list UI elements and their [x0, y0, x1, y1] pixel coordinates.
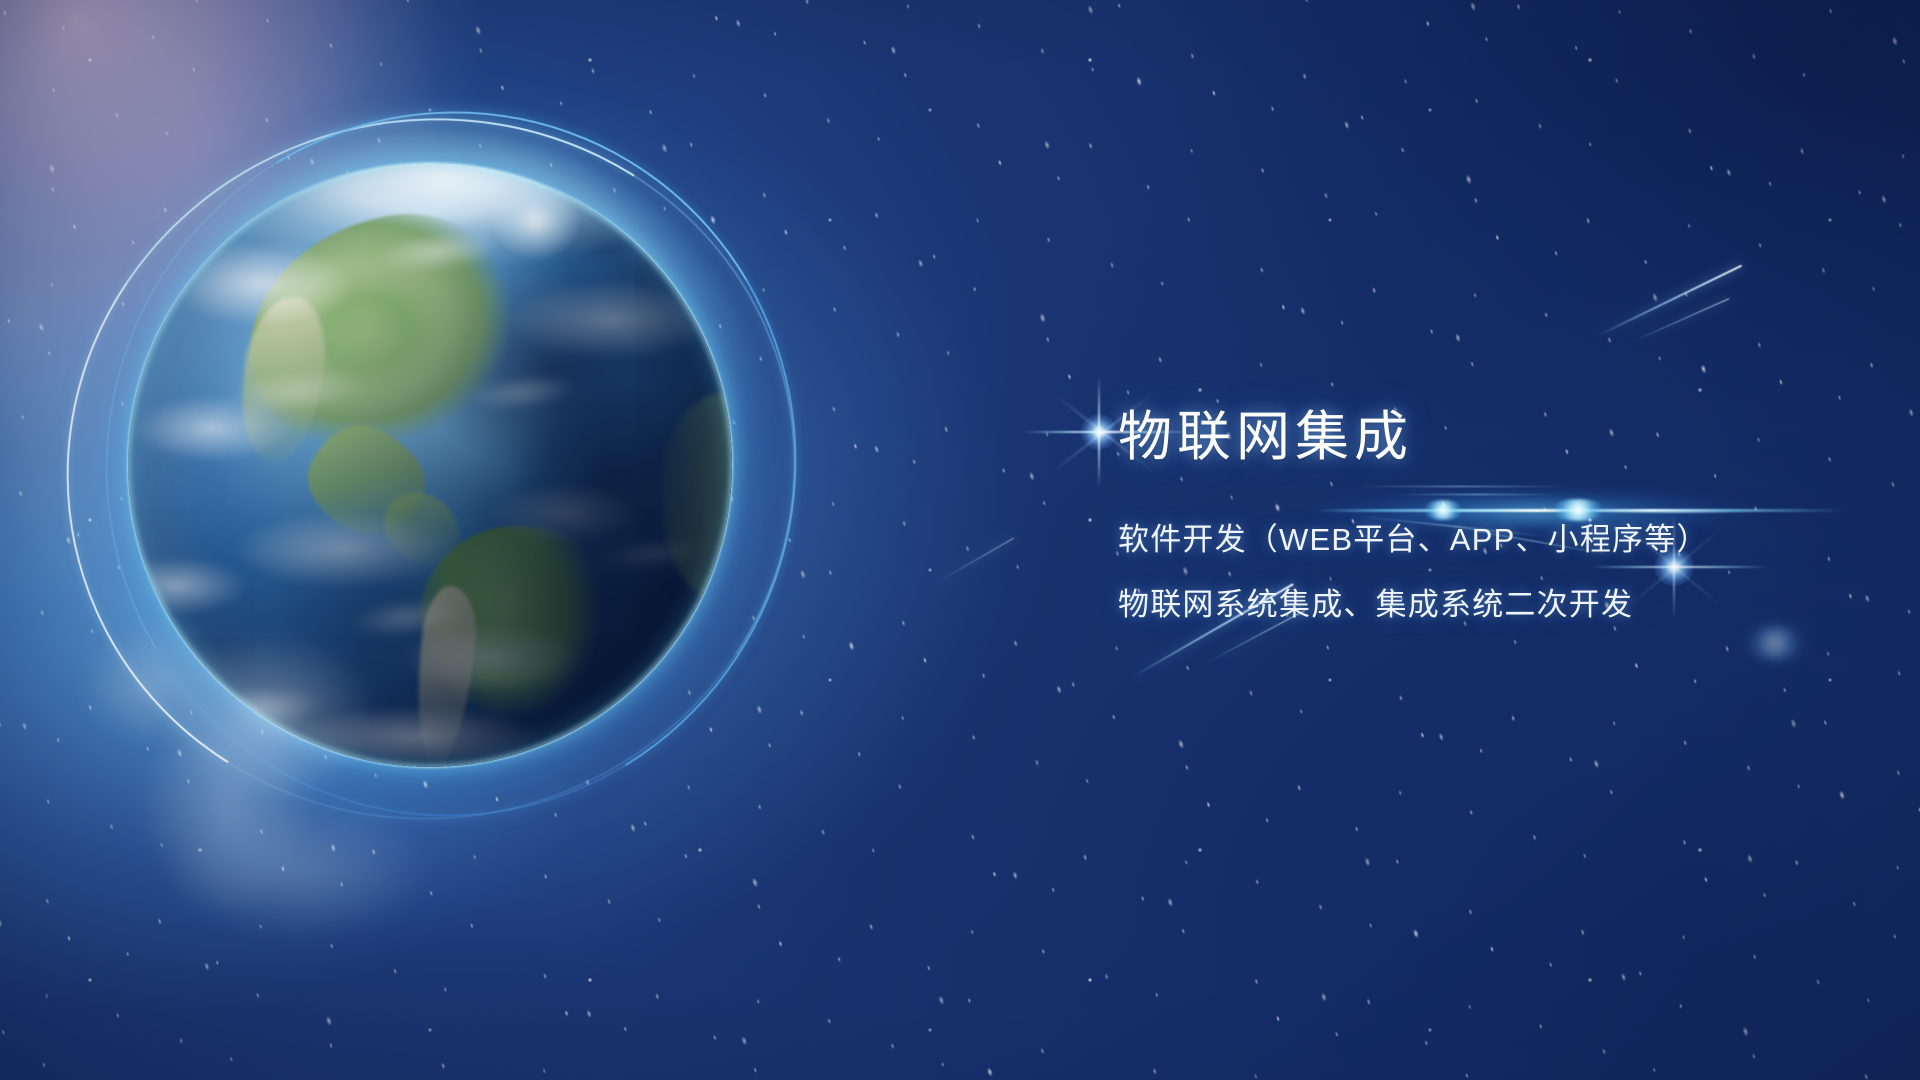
flare-ray-vertical: [1098, 376, 1100, 488]
hero-subtitle-line-2: 物联网系统集成、集成系统二次开发: [1118, 579, 1758, 624]
hero-text-block: 物联网集成 软件开发（WEB平台、APP、小程序等） 物联网系统集成、集成系统二…: [1118, 410, 1758, 624]
cloud-plume: [30, 620, 550, 940]
page-title: 物联网集成: [1118, 410, 1758, 464]
hero-banner: 物联网集成 软件开发（WEB平台、APP、小程序等） 物联网系统集成、集成系统二…: [0, 0, 1920, 1080]
shooting-star-icon: [1630, 298, 1729, 343]
hero-subtitle-line-1: 软件开发（WEB平台、APP、小程序等）: [1118, 514, 1758, 559]
flare-core-icon: [1081, 414, 1117, 450]
shooting-star-icon: [936, 538, 1015, 584]
flare-core-icon: [1740, 626, 1810, 660]
